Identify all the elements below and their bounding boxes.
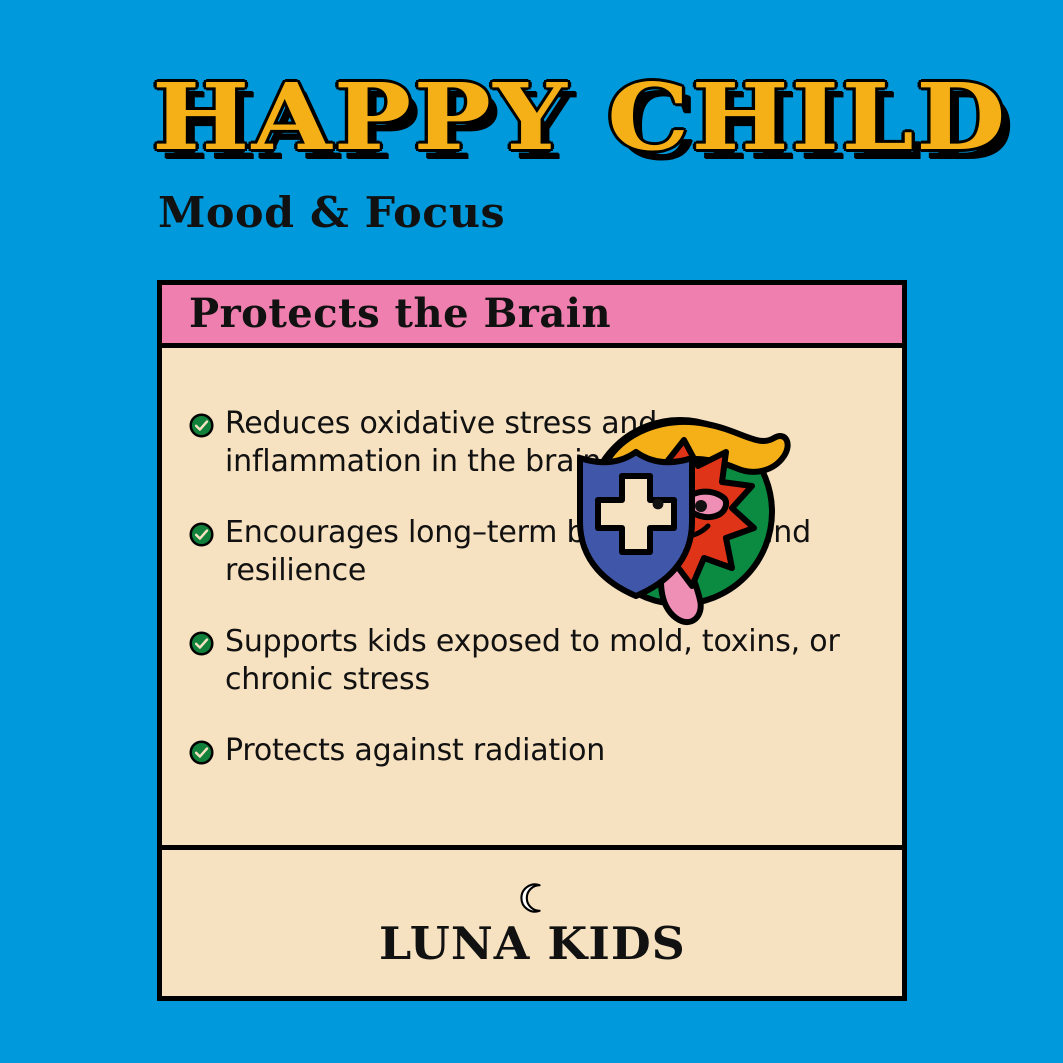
crescent-moon-icon: [515, 881, 549, 915]
check-circle-icon: [189, 413, 214, 438]
poster-canvas: HAPPY CHILD Mood & Focus Protects the Br…: [0, 0, 1063, 1063]
list-item-label: Encourages long–term brain health and re…: [225, 514, 862, 589]
list-item-label: Reduces oxidative stress and inflammatio…: [225, 405, 862, 480]
masthead: HAPPY CHILD Mood & Focus: [152, 72, 972, 234]
list-item-label: Protects against radiation: [225, 732, 605, 770]
check-circle-icon: [189, 522, 214, 547]
content-card: Protects the Brain Reduces oxidative str…: [157, 280, 907, 1001]
card-footer: LUNA KIDS: [162, 845, 902, 996]
check-circle-icon: [189, 631, 214, 656]
card-header-title: Protects the Brain: [189, 294, 611, 334]
benefits-list: Reduces oxidative stress and inflammatio…: [189, 405, 862, 770]
list-item: Protects against radiation: [189, 732, 862, 770]
list-item: Encourages long–term brain health and re…: [189, 514, 862, 589]
brand-wordmark: LUNA KIDS: [379, 921, 686, 966]
card-body: Reduces oxidative stress and inflammatio…: [162, 348, 902, 855]
page-subtitle: Mood & Focus: [158, 192, 988, 234]
check-circle-icon: [189, 740, 214, 765]
list-item: Reduces oxidative stress and inflammatio…: [189, 405, 862, 480]
list-item-label: Supports kids exposed to mold, toxins, o…: [225, 623, 862, 698]
list-item: Supports kids exposed to mold, toxins, o…: [189, 623, 862, 698]
card-header: Protects the Brain: [162, 285, 902, 348]
page-title: HAPPY CHILD: [152, 72, 1063, 162]
